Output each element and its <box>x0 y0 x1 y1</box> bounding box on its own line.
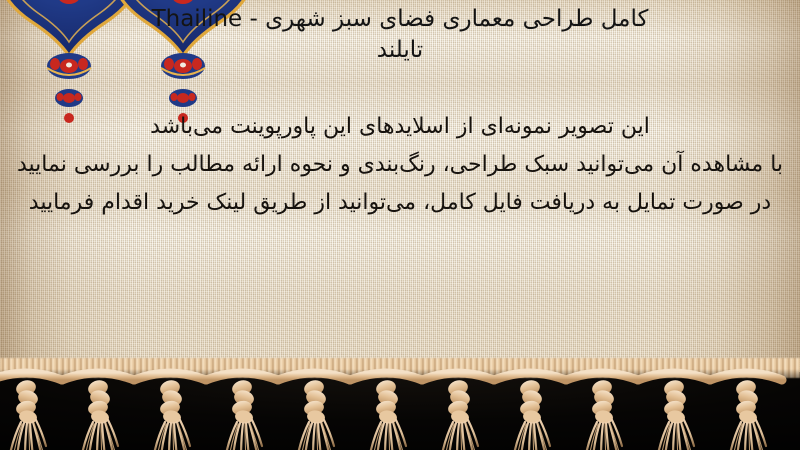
slide-canvas: کامل طراحی معماری فضای سبز شهری - Thaili… <box>0 0 800 450</box>
carpet-fringe <box>0 356 800 450</box>
slide-body-line-1: این تصویر نمونه‌ای از اسلایدهای این پاور… <box>12 108 788 146</box>
slide-title-line-2: تایلند <box>26 35 774 66</box>
slide-body-line-2: با مشاهده آن می‌توانید سبک طراحی، رنگ‌بن… <box>12 146 788 184</box>
slide-title-line-1: کامل طراحی معماری فضای سبز شهری - Thaili… <box>26 4 774 35</box>
slide-title: کامل طراحی معماری فضای سبز شهری - Thaili… <box>0 4 800 66</box>
slide-body: این تصویر نمونه‌ای از اسلایدهای این پاور… <box>0 108 800 222</box>
slide-text-layer: کامل طراحی معماری فضای سبز شهری - Thaili… <box>0 0 800 380</box>
fringe-tassel-group <box>0 373 782 450</box>
slide-body-line-3: در صورت تمایل به دریافت فایل کامل، می‌تو… <box>12 184 788 222</box>
